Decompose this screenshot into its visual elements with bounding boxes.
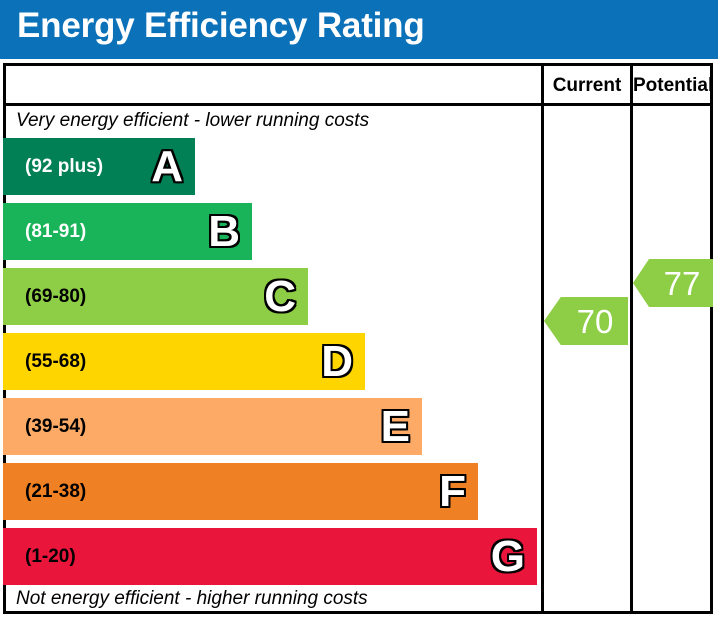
current-rating-arrow: 70 xyxy=(544,292,628,350)
band-b: (81-91)B xyxy=(3,203,252,260)
column-header-current: Current xyxy=(544,73,630,99)
band-range-a: (92 plus) xyxy=(25,156,103,178)
caption-bottom: Not energy efficient - higher running co… xyxy=(16,588,368,610)
header-row-divider-right xyxy=(541,103,713,106)
page-title: Energy Efficiency Rating xyxy=(17,6,425,46)
band-g: (1-20)G xyxy=(3,528,537,585)
energy-efficiency-rating-chart: Energy Efficiency Rating Current Potenti… xyxy=(0,0,718,619)
band-range-e: (39-54) xyxy=(25,416,86,438)
column-header-potential: Potential xyxy=(633,73,713,99)
header-bar: Energy Efficiency Rating xyxy=(0,0,718,59)
band-a: (92 plus)A xyxy=(3,138,195,195)
band-letter-d: D xyxy=(321,340,353,384)
caption-top: Very energy efficient - lower running co… xyxy=(16,110,369,132)
potential-rating-value: 77 xyxy=(633,254,713,312)
potential-column-divider xyxy=(630,63,633,614)
band-range-g: (1-20) xyxy=(25,546,76,568)
potential-rating-arrow: 77 xyxy=(633,254,713,312)
band-c: (69-80)C xyxy=(3,268,308,325)
band-letter-a: A xyxy=(151,145,183,189)
band-range-b: (81-91) xyxy=(25,221,86,243)
band-letter-g: G xyxy=(491,535,525,579)
current-rating-value: 70 xyxy=(544,292,628,350)
band-letter-b: B xyxy=(208,210,240,254)
header-row-divider-left xyxy=(3,103,541,106)
band-d: (55-68)D xyxy=(3,333,365,390)
band-range-d: (55-68) xyxy=(25,351,86,373)
band-range-c: (69-80) xyxy=(25,286,86,308)
band-f: (21-38)F xyxy=(3,463,478,520)
band-letter-e: E xyxy=(381,405,410,449)
band-e: (39-54)E xyxy=(3,398,422,455)
band-letter-c: C xyxy=(264,275,296,319)
band-range-f: (21-38) xyxy=(25,481,86,503)
band-letter-f: F xyxy=(439,470,466,514)
